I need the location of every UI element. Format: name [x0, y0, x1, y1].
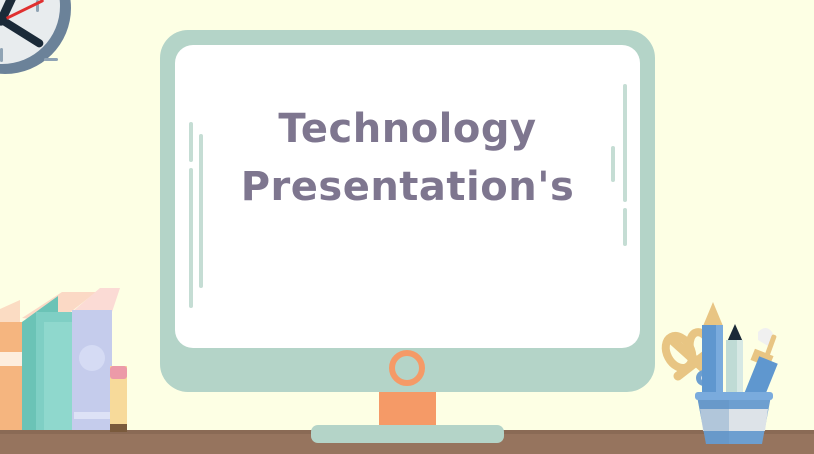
clock-tick-6: [0, 48, 3, 62]
desk-pencil: [110, 366, 127, 432]
book-orange-stripe: [0, 352, 22, 366]
slide-canvas: Technology Presentation's: [0, 0, 814, 454]
screen-accent-line-left-1a: [189, 122, 193, 162]
desk-pencil-eraser: [110, 366, 127, 379]
book-teal-inner: [44, 322, 72, 430]
desk-pencil-tip: [110, 424, 127, 432]
book-orange: [0, 300, 22, 430]
clock-tick-3: [44, 58, 58, 61]
book-lavender-emblem: [79, 345, 105, 371]
book-stack: [0, 288, 127, 432]
computer-monitor: [160, 30, 655, 443]
monitor-neck: [379, 392, 436, 428]
screen-accent-line-left-1b: [189, 168, 193, 308]
book-orange-spine: [0, 322, 22, 430]
screen-accent-line-right-1b: [623, 208, 627, 246]
screen-accent-line-left-2: [199, 134, 203, 288]
monitor-screen[interactable]: [175, 45, 640, 348]
pencil-cup-rim: [695, 392, 773, 400]
desk-scene-illustration: [0, 0, 814, 454]
book-lavender-stripe: [74, 412, 110, 419]
monitor-base: [311, 425, 504, 443]
screen-accent-line-right-1a: [623, 84, 627, 202]
screen-accent-line-right-2: [611, 146, 615, 182]
